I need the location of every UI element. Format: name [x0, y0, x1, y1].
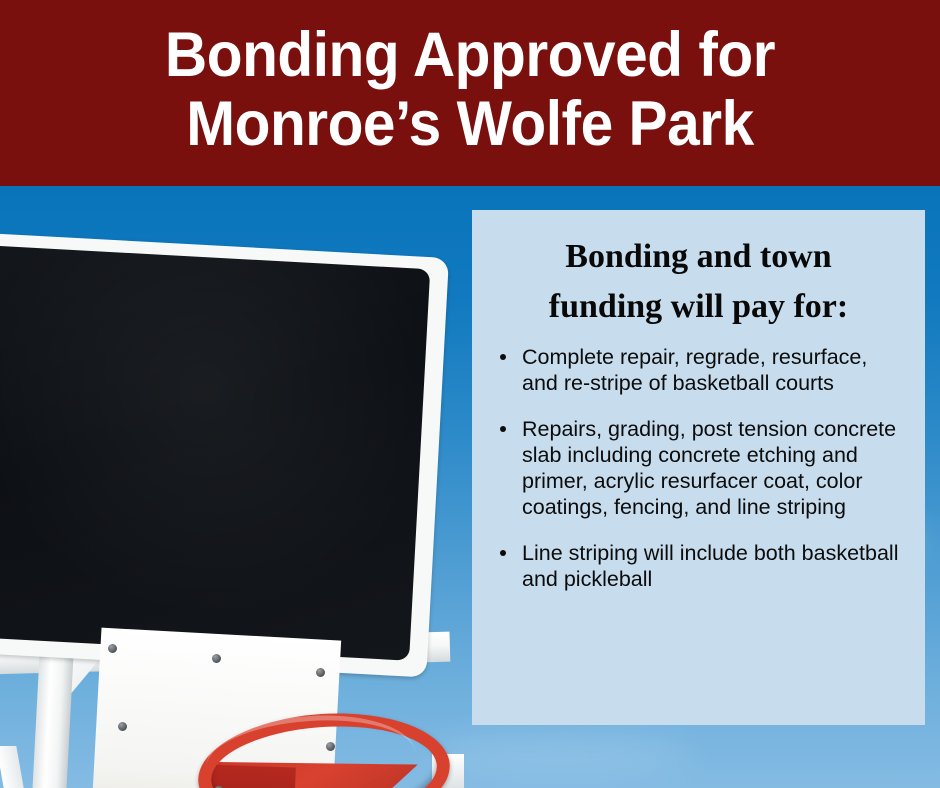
bullet-dot-icon [500, 354, 506, 360]
poster-graphic: Bonding and town funding will pay for: C… [0, 0, 940, 788]
support-pole [33, 656, 74, 788]
bullet-dot-icon [500, 550, 506, 556]
pole-left-edge [0, 746, 24, 788]
backboard-face [0, 243, 430, 660]
header-banner: Bonding Approved for Monroe’s Wolfe Park [0, 0, 940, 186]
funding-bullet-list: Complete repair, regrade, resurface, and… [472, 344, 925, 592]
backboard-bolt-icon [316, 668, 325, 677]
basketball-hoop-photo [0, 186, 470, 788]
list-item-text: Complete repair, regrade, resurface, and… [522, 345, 867, 395]
backboard-bolt-icon [212, 654, 221, 663]
info-panel: Bonding and town funding will pay for: C… [472, 210, 925, 725]
list-item: Repairs, grading, post tension concrete … [496, 416, 909, 520]
list-item-text: Line striping will include both basketba… [522, 541, 898, 591]
backboard-bolt-icon [118, 722, 127, 731]
list-item-text: Repairs, grading, post tension concrete … [522, 417, 896, 519]
list-item: Line striping will include both basketba… [496, 540, 909, 592]
bullet-dot-icon [500, 426, 506, 432]
backboard-bolt-icon [108, 644, 117, 653]
info-panel-heading: Bonding and town funding will pay for: [472, 210, 925, 332]
list-item: Complete repair, regrade, resurface, and… [496, 344, 909, 396]
page-title: Bonding Approved for Monroe’s Wolfe Park [33, 21, 907, 159]
